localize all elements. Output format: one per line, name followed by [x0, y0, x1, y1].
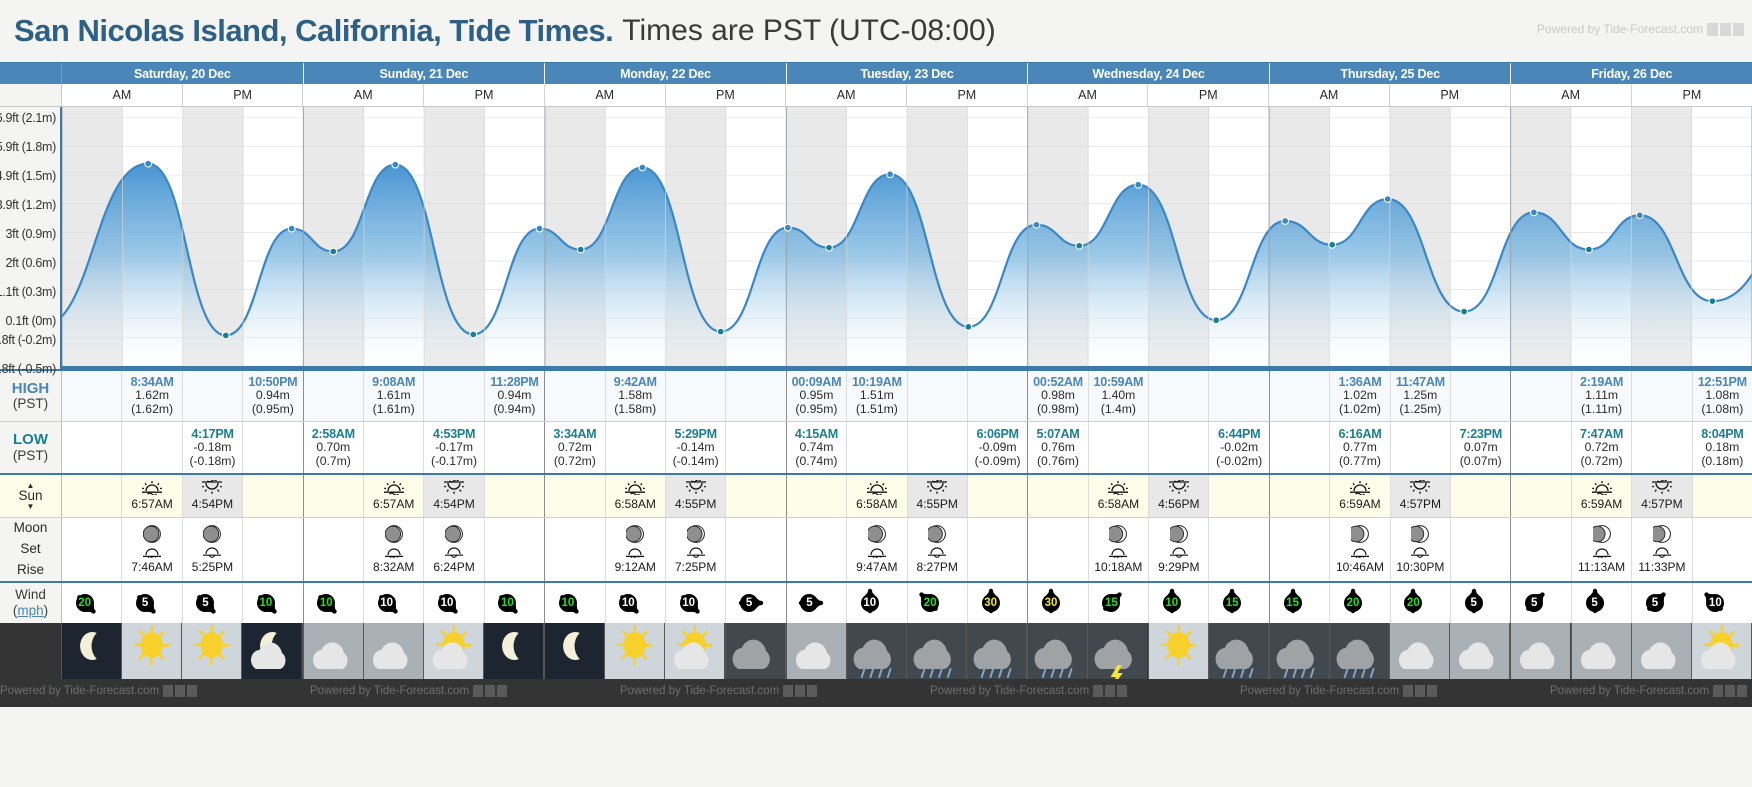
tide-extreme-point [1282, 218, 1289, 225]
high-tide-height: 1.11m [1585, 389, 1618, 403]
moonset-arc [384, 546, 404, 560]
sun-cell: 4:56PM [1149, 475, 1209, 517]
moon-phase-icon [1653, 525, 1671, 543]
moon-phase-icon [928, 525, 946, 543]
sun-cell: 6:58AM [1089, 475, 1149, 517]
high-day-4: 00:52AM0.98m(0.98m)10:59AM1.40m(1.4m) [1028, 371, 1270, 421]
wind-cell: 5 [122, 583, 182, 623]
weather-cell [605, 623, 665, 679]
wind-badge: 10 [313, 588, 353, 618]
sun-cell: 6:57AM [364, 475, 424, 517]
sun-cell: 4:54PM [424, 475, 484, 517]
wind-speed: 5 [1585, 595, 1605, 611]
high-tide-height: 0.94m [498, 389, 532, 403]
y-axis-label-0: 6.9ft (2.1m) [0, 111, 56, 125]
ampm-pm-5: PM [1390, 84, 1511, 106]
high-cell [424, 371, 484, 421]
high-cell [726, 371, 785, 421]
wind-speed: 15 [1222, 595, 1242, 611]
high-tide-height: 0.95m [799, 389, 833, 403]
ampm-am-5: AM [1269, 84, 1390, 106]
ampm-am-0: AM [62, 84, 183, 106]
high-cell [1511, 371, 1571, 421]
wind-badge: 5 [736, 588, 776, 618]
weather-cell [726, 623, 786, 679]
low-cell: 6:16AM0.77m(0.77m) [1330, 422, 1390, 473]
moon-phase [203, 524, 221, 544]
badge-icon [1427, 685, 1437, 697]
sun-cell [1209, 475, 1268, 517]
tide-extreme-point [784, 224, 791, 231]
low-cell: 7:47AM0.72m(0.72m) [1572, 422, 1632, 473]
weather-cell [484, 623, 544, 679]
high-cell: 9:42AM1.58m(1.58m) [606, 371, 666, 421]
wind-cell: 10 [1149, 583, 1209, 623]
sun-day-2: 6:58AM4:55PM [545, 475, 787, 517]
wind-badge: 15 [1098, 588, 1138, 618]
high-tide-height-alt: (0.95m) [252, 403, 294, 417]
ampm-am-4: AM [1028, 84, 1149, 106]
high-tide-time: 10:59AM [1094, 375, 1144, 389]
low-cell: 6:44PM-0.02m(-0.02m) [1209, 422, 1268, 473]
high-tide-height-alt: (1.62m) [131, 403, 173, 417]
wind-speed: 10 [1705, 595, 1725, 611]
moon-cell [304, 518, 364, 581]
badge-icon [187, 685, 197, 697]
wind-badge: 5 [796, 588, 836, 618]
badge-icon [1725, 685, 1735, 697]
weather-icon-cloud [1572, 623, 1631, 679]
wind-unit-link[interactable]: mph [17, 603, 43, 618]
weather-icon-cloud [304, 623, 363, 679]
high-cell [908, 371, 968, 421]
high-tide-time: 12:51PM [1698, 375, 1747, 389]
sun-day-5: 6:59AM4:57PM [1270, 475, 1512, 517]
sun-cell [1028, 475, 1088, 517]
wind-badge: 5 [1582, 588, 1622, 618]
weather-icon-cloud [1450, 623, 1509, 679]
page-subtitle: Times are PST (UTC-08:00) [622, 14, 995, 48]
wind-cell: 5 [183, 583, 243, 623]
weather-icon-sunny [122, 623, 181, 679]
high-cell [545, 371, 605, 421]
sun-cell [545, 475, 605, 517]
moon-phase-icon [687, 525, 705, 543]
high-cell [1632, 371, 1692, 421]
low-day-4: 5:07AM0.76m(0.76m)6:44PM-0.02m(-0.02m) [1028, 422, 1270, 473]
low-cell [726, 422, 785, 473]
sun-day-6: 6:59AM4:57PM [1511, 475, 1752, 517]
high-tide-time: 9:08AM [372, 375, 415, 389]
moon-cell [1693, 518, 1752, 581]
moon-cell: 7:46AM [122, 518, 182, 581]
wind-speed: 30 [1041, 595, 1061, 611]
sun-cell: 4:55PM [666, 475, 726, 517]
y-axis-label-6: 1.1ft (0.3m) [0, 285, 56, 299]
high-tide-height-alt: (1.4m) [1101, 403, 1136, 417]
moonset-icon [867, 546, 887, 558]
high-cell [968, 371, 1027, 421]
high-cell: 11:28PM0.94m(0.94m) [485, 371, 544, 421]
weather-icon-rain [1270, 623, 1329, 679]
sun-cell [62, 475, 122, 517]
weather-day-1 [304, 623, 546, 679]
wind-badge: 5 [1521, 588, 1561, 618]
low-tide-row: LOW (PST) 4:17PM-0.18m(-0.18m)2:58AM0.70… [0, 421, 1752, 473]
badge-icon [1733, 23, 1744, 36]
badge-icon [485, 685, 495, 697]
high-tide-time: 10:19AM [852, 375, 902, 389]
wind-day-6: 55510 [1511, 583, 1752, 623]
high-tide-height: 1.51m [860, 389, 894, 403]
low-cell: 4:17PM-0.18m(-0.18m) [183, 422, 243, 473]
weather-cell [907, 623, 967, 679]
moon-cell: 10:46AM [1330, 518, 1390, 581]
low-tide-height-alt: (0.74m) [795, 455, 837, 469]
low-tide-height: 0.70m [316, 441, 350, 455]
sunrise-icon [1591, 480, 1613, 497]
sunrise-time: 6:58AM [615, 497, 656, 511]
wind-speed: 10 [497, 595, 517, 611]
low-tide-time: 7:47AM [1580, 427, 1623, 441]
wind-speed: 5 [195, 595, 215, 611]
high-tide-time: 10:50PM [248, 375, 297, 389]
moonset-time: 10:46AM [1336, 560, 1384, 575]
low-tide-height-alt: (0.07m) [1460, 455, 1502, 469]
powered-by-footer-badges [163, 685, 197, 697]
weather-cell [847, 623, 907, 679]
high-cell: 11:47AM1.25m(1.25m) [1391, 371, 1451, 421]
low-cell [847, 422, 907, 473]
sun-cell: 6:59AM [1330, 475, 1390, 517]
tide-curve-svg [62, 107, 1752, 366]
sun-cell [1511, 475, 1571, 517]
wind-cell: 20 [1391, 583, 1451, 623]
moonset-icon [384, 546, 404, 558]
sun-cell: 6:58AM [606, 475, 666, 517]
day-header-0: Saturday, 20 Dec [62, 63, 304, 84]
high-tide-height-alt: (0.94m) [493, 403, 535, 417]
weather-icon-moon-clear [484, 623, 543, 679]
low-day-6: 7:47AM0.72m(0.72m)8:04PM0.18m(0.18m) [1511, 422, 1752, 473]
low-cell [485, 422, 544, 473]
low-cell: 4:15AM0.74m(0.74m) [787, 422, 847, 473]
moonrise-arc [444, 546, 464, 560]
sun-cell: 4:57PM [1632, 475, 1692, 517]
wind-badge: 10 [494, 588, 534, 618]
tide-chart-y-axis: 6.9ft (2.1m)5.9ft (1.8m)4.9ft (1.5m)3.9f… [0, 107, 62, 369]
ampm-am-3: AM [786, 84, 907, 106]
ampm-header-row: AMPMAMPMAMPMAMPMAMPMAMPMAMPM [0, 84, 1752, 107]
moonset-icon [1108, 546, 1128, 558]
sunset-time: 4:57PM [1400, 497, 1441, 511]
moonrise-arc [202, 546, 222, 560]
wind-speed: 5 [1524, 595, 1544, 611]
moonset-icon [1592, 546, 1612, 558]
wind-cell: 5 [787, 583, 847, 623]
moon-phase-icon [1411, 525, 1429, 543]
high-tide-time: 00:52AM [1033, 375, 1083, 389]
wind-cell: 5 [1451, 583, 1510, 623]
weather-cell [1572, 623, 1632, 679]
wind-cell: 10 [364, 583, 424, 623]
high-tide-height: 1.02m [1343, 389, 1377, 403]
powered-by-footer: Powered by Tide-Forecast.com [930, 685, 1127, 697]
badge-icon [1117, 685, 1127, 697]
weather-cell [1692, 623, 1752, 679]
sun-cell [726, 475, 785, 517]
wind-badge: 10 [676, 588, 716, 618]
moon-phase [868, 524, 886, 544]
high-tide-height-alt: (1.58m) [614, 403, 656, 417]
wind-day-3: 5102030 [787, 583, 1029, 623]
tide-extreme-point [1531, 209, 1538, 216]
moonrise-time: 10:30PM [1396, 560, 1444, 575]
ampm-pm-6: PM [1632, 84, 1752, 106]
moonrise-arc [1410, 546, 1430, 560]
high-tide-height: 0.94m [256, 389, 290, 403]
wind-badge: 10 [555, 588, 595, 618]
moonrise-arc [686, 546, 706, 560]
moonrise-icon [444, 546, 464, 558]
high-tide-height-alt: (1.51m) [856, 403, 898, 417]
moon-phase [385, 524, 403, 544]
wind-speed: 20 [1343, 595, 1363, 611]
high-tide-height-alt: (0.95m) [795, 403, 837, 417]
ampm-header-spacer [0, 84, 62, 106]
wind-badge: 30 [978, 588, 1018, 618]
ampm-pm-4: PM [1148, 84, 1269, 106]
wind-speed: 10 [618, 595, 638, 611]
badge-icon [783, 685, 793, 697]
moonset-arc [625, 546, 645, 560]
sunrise-icon [1349, 480, 1371, 497]
high-day-5: 1:36AM1.02m(1.02m)11:47AM1.25m(1.25m) [1270, 371, 1512, 421]
moon-day-1: 8:32AM6:24PM [304, 518, 546, 581]
low-tide-height: 0.76m [1041, 441, 1075, 455]
moon-day-3: 9:47AM8:27PM [787, 518, 1029, 581]
wind-cell: 10 [424, 583, 484, 623]
sun-cell [787, 475, 847, 517]
low-tide-height: 0.18m [1705, 441, 1739, 455]
ampm-pm-2: PM [666, 84, 787, 106]
high-tide-height-alt: (1.02m) [1339, 403, 1381, 417]
ampm-group-0: AMPM [62, 84, 303, 106]
low-tide-height-alt: (-0.17m) [431, 455, 477, 469]
weather-cell [62, 623, 122, 679]
y-axis-label-2: 4.9ft (1.5m) [0, 169, 56, 183]
moonset-arc [1592, 546, 1612, 560]
sun-day-4: 6:58AM4:56PM [1028, 475, 1270, 517]
wind-badge: 5 [1642, 588, 1682, 618]
wind-badge: 5 [132, 588, 172, 618]
moon-phase [687, 524, 705, 544]
high-tide-height: 1.08m [1705, 389, 1739, 403]
wind-speed: 5 [739, 595, 759, 611]
powered-by-footer-badges [783, 685, 817, 697]
day-header-spacer [0, 63, 62, 84]
wind-cell: 5 [1632, 583, 1692, 623]
sunrise-icon [383, 480, 405, 497]
sun-cell: 6:59AM [1572, 475, 1632, 517]
tide-extreme-point [1329, 241, 1336, 248]
wind-badge: 20 [72, 588, 112, 618]
high-tide-height: 0.98m [1041, 389, 1075, 403]
powered-by-footer-label: Powered by Tide-Forecast.com [620, 685, 779, 697]
wind-badge: 15 [1280, 588, 1320, 618]
powered-by-footer: Powered by Tide-Forecast.com [620, 685, 817, 697]
moon-cell: 9:12AM [606, 518, 666, 581]
low-tide-height-alt: (0.72m) [554, 455, 596, 469]
weather-cell [1088, 623, 1148, 679]
moonset-icon [625, 546, 645, 558]
tide-extreme-point [1076, 242, 1083, 249]
low-cell [606, 422, 666, 473]
wind-cell: 10 [243, 583, 302, 623]
moon-cell [1270, 518, 1330, 581]
sunrise-time: 6:59AM [1581, 497, 1622, 511]
moon-cell: 8:32AM [364, 518, 424, 581]
high-tide-height: 1.58m [618, 389, 652, 403]
ampm-pm-3: PM [907, 84, 1028, 106]
weather-icon-sunny [182, 623, 241, 679]
low-tide-time: 8:04PM [1701, 427, 1743, 441]
weather-cell [364, 623, 424, 679]
low-tide-time: 6:16AM [1338, 427, 1381, 441]
moon-cell: 8:27PM [908, 518, 968, 581]
high-tide-time: 9:42AM [614, 375, 657, 389]
low-cell: 8:04PM0.18m(0.18m) [1693, 422, 1752, 473]
weather-icon-cloud [1632, 623, 1691, 679]
moon-cell: 11:33PM [1632, 518, 1692, 581]
high-tide-row: HIGH (PST) 8:34AM1.62m(1.62m)10:50PM0.94… [0, 369, 1752, 421]
tide-extreme-point [577, 246, 584, 253]
badge-icon [795, 685, 805, 697]
weather-cell [665, 623, 725, 679]
weather-cell [1390, 623, 1450, 679]
low-tide-height-alt: (0.7m) [316, 455, 351, 469]
badge-icon [807, 685, 817, 697]
low-tide-height-alt: (0.76m) [1037, 455, 1079, 469]
tide-extreme-point [222, 332, 229, 339]
high-cell: 2:19AM1.11m(1.11m) [1572, 371, 1632, 421]
moon-phase-icon [445, 525, 463, 543]
powered-by-footer-badges [1403, 685, 1437, 697]
moon-day-0: 7:46AM5:25PM [62, 518, 304, 581]
badge-icon [473, 685, 483, 697]
wind-badge: 10 [253, 588, 293, 618]
low-tide-height-alt: (0.18m) [1701, 455, 1743, 469]
wind-speed: 15 [1283, 595, 1303, 611]
high-cell: 12:51PM1.08m(1.08m) [1693, 371, 1752, 421]
wind-row-label: Wind (mph) [0, 583, 62, 623]
weather-icon-night-cloud [726, 623, 785, 679]
weather-icon-clear-night [62, 623, 121, 679]
sunset-icon [926, 480, 948, 497]
high-tide-height: 1.40m [1101, 389, 1135, 403]
wind-badge: 15 [1219, 588, 1259, 618]
powered-by-footer-label: Powered by Tide-Forecast.com [930, 685, 1089, 697]
sunset-time: 4:57PM [1641, 497, 1682, 511]
weather-icon-sun-cloud [665, 623, 724, 679]
ampm-group-3: AMPM [786, 84, 1027, 106]
moonset-time: 8:32AM [373, 560, 414, 575]
high-cell [304, 371, 364, 421]
sun-cell [968, 475, 1027, 517]
y-axis-label-9: -1.8ft (-0.5m) [0, 362, 56, 376]
tide-extreme-point [965, 323, 972, 330]
wind-cell: 20 [908, 583, 968, 623]
tide-extreme-point [536, 225, 543, 232]
moon-row-label: Moon Set Rise [0, 518, 62, 581]
moon-set-label: Set [14, 539, 48, 560]
low-cell: 4:53PM-0.17m(-0.17m) [424, 422, 484, 473]
low-cell [1089, 422, 1149, 473]
wind-badge: 10 [615, 588, 655, 618]
y-axis-label-3: 3.9ft (1.2m) [0, 198, 56, 212]
sunset-icon [1168, 480, 1190, 497]
moon-day-6: 11:13AM11:33PM [1511, 518, 1752, 581]
low-tide-height: 0.07m [1464, 441, 1498, 455]
wind-day-4: 30151015 [1028, 583, 1270, 623]
tide-extreme-point [1709, 298, 1716, 305]
moonrise-arc [1652, 546, 1672, 560]
badge-icon [1720, 23, 1731, 36]
wind-cell: 10 [606, 583, 666, 623]
sun-cell [1451, 475, 1510, 517]
sunrise-time: 6:58AM [1098, 497, 1139, 511]
badge-icon [1707, 23, 1718, 36]
weather-cell [545, 623, 605, 679]
wind-speed: 10 [316, 595, 336, 611]
low-cell: 7:23PM0.07m(0.07m) [1451, 422, 1510, 473]
powered-by-footer-label: Powered by Tide-Forecast.com [0, 685, 159, 697]
tide-chart-plot [62, 107, 1752, 369]
high-tide-height-alt: (1.61m) [373, 403, 415, 417]
moon-phase [928, 524, 946, 544]
low-tide-height: -0.17m [435, 441, 473, 455]
tide-extreme-point [392, 161, 399, 168]
tide-extreme-point [1586, 246, 1593, 253]
low-tide-height-alt: (-0.14m) [673, 455, 719, 469]
low-cell [122, 422, 182, 473]
high-cell: 1:36AM1.02m(1.02m) [1330, 371, 1390, 421]
tide-chart-row: 6.9ft (2.1m)5.9ft (1.8m)4.9ft (1.5m)3.9f… [0, 107, 1752, 369]
sunset-icon [685, 480, 707, 497]
low-day-0: 4:17PM-0.18m(-0.18m) [62, 422, 304, 473]
powered-by-footer-label: Powered by Tide-Forecast.com [310, 685, 469, 697]
wind-speed: 10 [1162, 595, 1182, 611]
high-cell: 10:19AM1.51m(1.51m) [847, 371, 907, 421]
low-tide-height: -0.02m [1220, 441, 1258, 455]
badge-icon [1093, 685, 1103, 697]
weather-row [0, 623, 1752, 679]
wind-speed: 10 [860, 595, 880, 611]
wind-speed: 10 [558, 595, 578, 611]
weather-cell [1330, 623, 1390, 679]
sunset-icon [201, 480, 223, 497]
low-cell: 5:07AM0.76m(0.76m) [1028, 422, 1088, 473]
wind-cell: 5 [1572, 583, 1632, 623]
moonrise-icon [202, 546, 222, 558]
low-tide-time: 4:17PM [191, 427, 233, 441]
weather-cell [424, 623, 484, 679]
weather-cell [122, 623, 182, 679]
weather-icon-rain [847, 623, 906, 679]
moon-phase-icon [626, 525, 644, 543]
tide-extreme-point [887, 171, 894, 178]
high-cell: 9:08AM1.61m(1.61m) [364, 371, 424, 421]
